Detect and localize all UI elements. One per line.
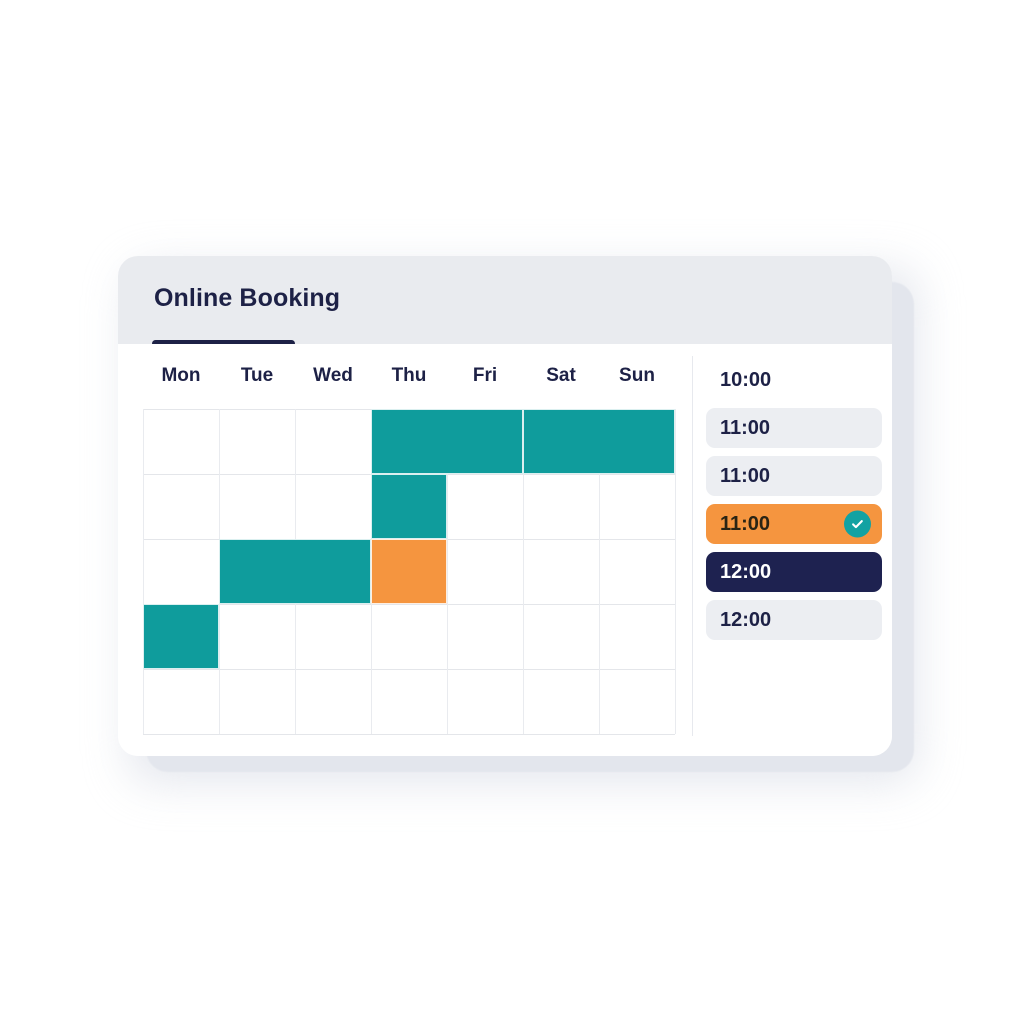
time-slot-label: 11:00 xyxy=(720,417,770,440)
card-body: MonTueWedThuFriSatSun 10:0011:0011:0011:… xyxy=(118,344,892,756)
calendar-day-header: MonTueWedThuFriSatSun xyxy=(143,358,675,398)
gridline-horizontal xyxy=(143,734,675,735)
calendar-day-fri[interactable]: Fri xyxy=(447,358,523,398)
time-slot[interactable]: 11:00 xyxy=(706,408,882,448)
page-title: Online Booking xyxy=(154,284,340,313)
time-slot-label: 11:00 xyxy=(720,513,770,536)
calendar-day-sun[interactable]: Sun xyxy=(599,358,675,398)
calendar-day-tue[interactable]: Tue xyxy=(219,358,295,398)
calendar-grid[interactable] xyxy=(143,409,675,734)
time-slot-label: 10:00 xyxy=(720,369,771,392)
calendar-day-thu[interactable]: Thu xyxy=(371,358,447,398)
calendar-day-sat[interactable]: Sat xyxy=(523,358,599,398)
time-slot-label: 12:00 xyxy=(720,561,771,584)
event-tue-wed-row3[interactable] xyxy=(219,539,371,604)
time-slot[interactable]: 12:00 xyxy=(706,552,882,592)
calendar-event-blocks[interactable] xyxy=(143,409,675,734)
event-sat-sun-row1[interactable] xyxy=(523,409,675,474)
event-thu-row3[interactable] xyxy=(371,539,447,604)
event-thu-fri-row1[interactable] xyxy=(371,409,523,474)
gridline-vertical xyxy=(675,409,676,734)
time-slot-list[interactable]: 10:0011:0011:0011:0012:0012:00 xyxy=(706,360,882,648)
time-slot-label: 11:00 xyxy=(720,465,770,488)
time-slot[interactable]: 11:00 xyxy=(706,504,882,544)
event-thu-row2[interactable] xyxy=(371,474,447,539)
time-slot[interactable]: 12:00 xyxy=(706,600,882,640)
calendar-panel: MonTueWedThuFriSatSun xyxy=(143,344,692,756)
calendar-day-mon[interactable]: Mon xyxy=(143,358,219,398)
time-slot[interactable]: 10:00 xyxy=(706,360,882,400)
event-mon-row4[interactable] xyxy=(143,604,219,669)
card-header: Online Booking xyxy=(118,256,892,346)
calendar-day-wed[interactable]: Wed xyxy=(295,358,371,398)
check-icon xyxy=(844,511,871,538)
screen: Online Booking MonTueWedThuFriSatSun 10:… xyxy=(0,0,1024,1024)
time-slot-label: 12:00 xyxy=(720,609,771,632)
panel-divider xyxy=(692,356,693,736)
time-slot[interactable]: 11:00 xyxy=(706,456,882,496)
booking-card: Online Booking MonTueWedThuFriSatSun 10:… xyxy=(118,256,892,756)
